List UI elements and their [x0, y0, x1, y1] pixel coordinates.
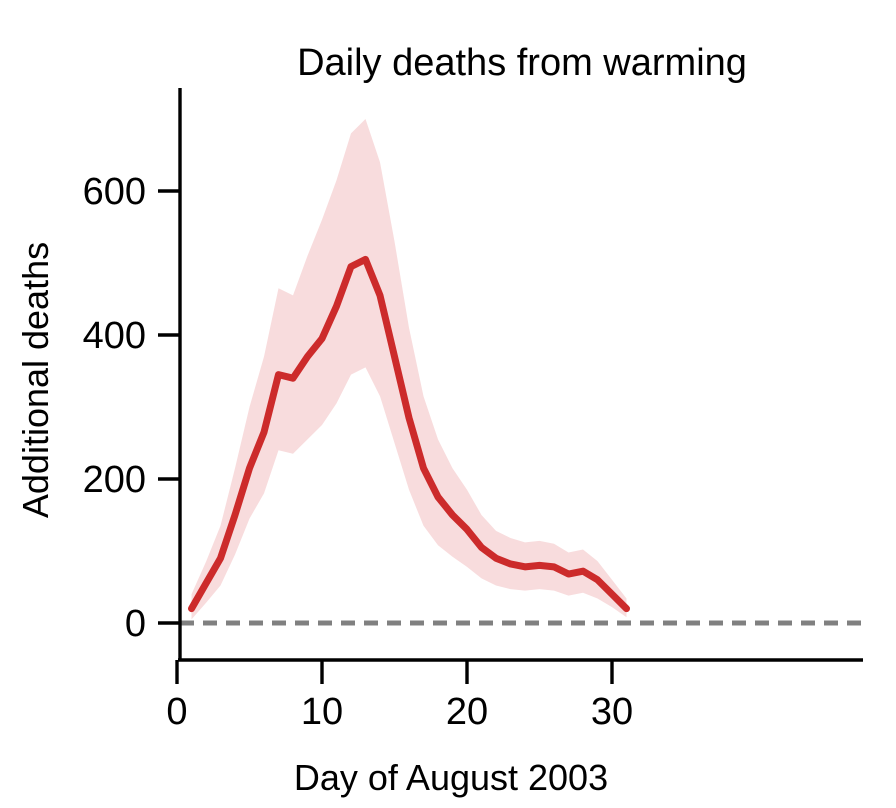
- x-tick-label: 10: [301, 691, 343, 733]
- y-tick-label: 600: [83, 171, 146, 213]
- y-tick-label: 200: [83, 459, 146, 501]
- chart-canvas: Daily deaths from warming 0200400600 010…: [0, 0, 896, 808]
- y-axis-label: Additional deaths: [15, 242, 56, 518]
- x-tick-label: 0: [166, 691, 187, 733]
- chart-title: Daily deaths from warming: [297, 42, 747, 84]
- chart-figure: Daily deaths from warming 0200400600 010…: [0, 0, 896, 808]
- uncertainty-band: [192, 119, 627, 619]
- x-tick-label: 30: [591, 691, 633, 733]
- x-axis-label: Day of August 2003: [294, 757, 608, 798]
- y-tick-label: 0: [125, 603, 146, 645]
- x-tick-label: 20: [446, 691, 488, 733]
- y-axis-ticks: 0200400600: [83, 171, 180, 645]
- x-axis-ticks: 0102030: [166, 660, 633, 733]
- y-tick-label: 400: [83, 315, 146, 357]
